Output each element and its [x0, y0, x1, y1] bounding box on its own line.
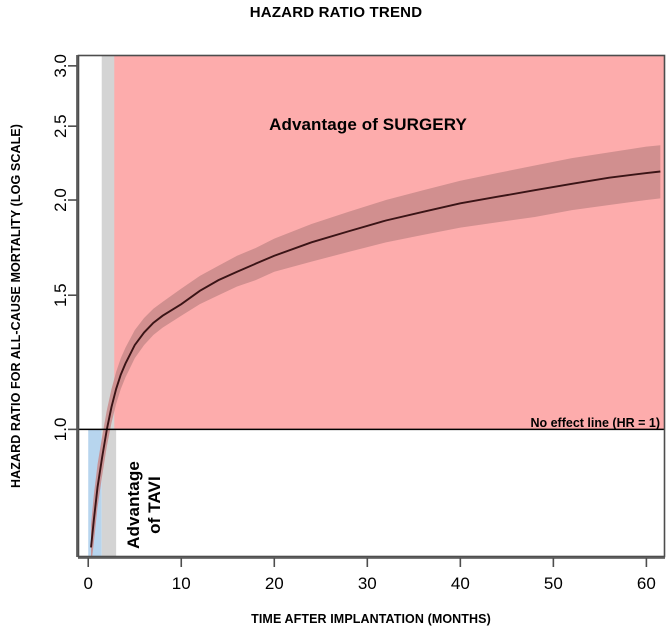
region-advantage-of-surgery	[114, 55, 665, 429]
y-axis-tick-label: 1.5	[51, 283, 70, 307]
x-axis-tick-label: 40	[451, 574, 470, 593]
annotation-advantage-of-tavi-line1: Advantage	[124, 461, 143, 549]
annotation-no-effect-line: No effect line (HR = 1)	[530, 416, 660, 430]
annotation-advantage-of-tavi-line2: of TAVI	[145, 476, 164, 534]
x-axis-tick-label: 20	[265, 574, 284, 593]
x-axis: 0102030405060	[78, 558, 665, 593]
region-crossover-zone	[102, 55, 116, 557]
y-axis-title: HAZARD RATIO FOR ALL-CAUSE MORTALITY (LO…	[9, 124, 23, 488]
annotation-advantage-of-surgery: Advantage of SURGERY	[269, 115, 467, 134]
x-axis-tick-label: 60	[637, 574, 656, 593]
y-axis-tick-label: 1.0	[51, 418, 70, 442]
y-axis-tick-label: 2.0	[51, 188, 70, 212]
y-axis-tick-label: 3.0	[51, 54, 70, 78]
x-axis-tick-label: 0	[83, 574, 92, 593]
hazard-ratio-figure: HAZARD RATIO TREND 0102030405060 1.01.52…	[0, 0, 672, 631]
hazard-ratio-chart: 0102030405060 1.01.52.02.53.0 TIME AFTER…	[0, 0, 672, 631]
x-axis-tick-label: 50	[544, 574, 563, 593]
x-axis-tick-label: 10	[172, 574, 191, 593]
x-axis-tick-label: 30	[358, 574, 377, 593]
y-axis: 1.01.52.02.53.0	[51, 54, 77, 557]
x-axis-title: TIME AFTER IMPLANTATION (MONTHS)	[251, 612, 491, 626]
y-axis-tick-label: 2.5	[51, 114, 70, 138]
